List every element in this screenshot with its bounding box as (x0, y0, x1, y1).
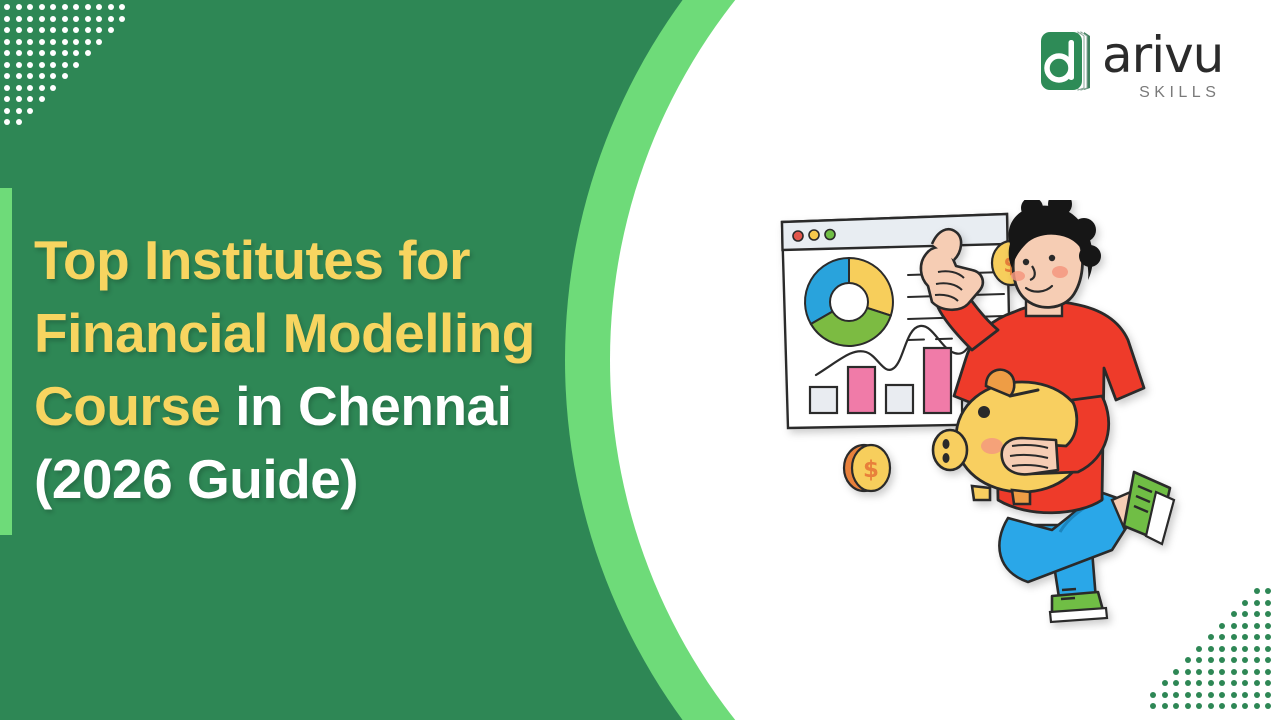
decor-dot (27, 27, 33, 33)
decor-dot (16, 119, 22, 125)
decor-dot (1219, 692, 1225, 698)
decor-dot (1254, 692, 1260, 698)
decor-dot (27, 62, 33, 68)
decor-dot (1208, 680, 1214, 686)
decor-dot (1242, 680, 1248, 686)
logo-wordmark: arivu SKILLS (1102, 30, 1223, 102)
headline-line-1: Top Institutes for (34, 229, 470, 291)
decor-dot (50, 50, 56, 56)
decor-dot (1242, 669, 1248, 675)
headline-line-2: Financial Modelling (34, 302, 535, 364)
decor-dot (1265, 680, 1271, 686)
decor-dot (1265, 634, 1271, 640)
decor-dot (27, 73, 33, 79)
decor-dot (1196, 646, 1202, 652)
decor-dot (27, 108, 33, 114)
decor-dot (1242, 657, 1248, 663)
decor-dot (4, 50, 10, 56)
decor-dot (62, 50, 68, 56)
decor-dot (1265, 703, 1271, 709)
decor-dot (1265, 646, 1271, 652)
decor-dot (50, 62, 56, 68)
svg-text:$: $ (863, 457, 879, 483)
decor-dot (39, 96, 45, 102)
coin-lower: $ (844, 445, 890, 491)
decor-dot (4, 62, 10, 68)
decor-dot (4, 27, 10, 33)
decor-dot (4, 73, 10, 79)
decor-dot (39, 50, 45, 56)
logo-subtitle: SKILLS (1102, 84, 1220, 102)
decor-dot (1254, 634, 1260, 640)
decor-dot (50, 27, 56, 33)
decor-dot (1219, 680, 1225, 686)
bar-4 (924, 348, 951, 413)
decor-dot (1254, 588, 1260, 594)
decor-dot (1231, 657, 1237, 663)
decor-dot (1231, 634, 1237, 640)
decor-dot (16, 85, 22, 91)
decor-dot (96, 27, 102, 33)
decor-dot (1219, 669, 1225, 675)
decor-dot (1254, 646, 1260, 652)
headline-line-4: (2026 Guide) (34, 448, 358, 510)
decor-dot (1208, 692, 1214, 698)
cheek-left (1011, 271, 1025, 281)
decor-dot (1162, 703, 1168, 709)
page-title: Top Institutes for Financial Modelling C… (34, 224, 634, 516)
decor-dot (1219, 703, 1225, 709)
decor-dot (39, 27, 45, 33)
decor-dot (108, 4, 114, 10)
decor-dot (1173, 669, 1179, 675)
decor-dot (1185, 669, 1191, 675)
decor-dot (1196, 669, 1202, 675)
decor-dot (39, 16, 45, 22)
decor-dot (50, 4, 56, 10)
decor-dot (16, 16, 22, 22)
decor-dot (1219, 657, 1225, 663)
bar-3 (886, 385, 913, 413)
decor-dot (1196, 692, 1202, 698)
decor-dot (1254, 611, 1260, 617)
decor-dot (50, 39, 56, 45)
eye-left (1023, 259, 1029, 265)
decor-dot (1265, 588, 1271, 594)
decor-dot (1219, 646, 1225, 652)
decor-dot (1219, 623, 1225, 629)
decor-dot (1242, 634, 1248, 640)
decor-dot (4, 108, 10, 114)
hero-banner: Top Institutes for Financial Modelling C… (0, 0, 1280, 720)
decor-dot (1173, 680, 1179, 686)
decor-dot (1185, 680, 1191, 686)
decor-dot (1219, 634, 1225, 640)
decor-dot (16, 108, 22, 114)
decor-dot (1242, 692, 1248, 698)
decor-dot (62, 62, 68, 68)
decor-dot (1242, 611, 1248, 617)
decor-dot (73, 50, 79, 56)
decor-dot (1254, 657, 1260, 663)
decor-dot (50, 73, 56, 79)
decor-dot (16, 27, 22, 33)
decor-dot (1231, 680, 1237, 686)
decor-dot (50, 16, 56, 22)
decor-dot (1254, 600, 1260, 606)
decor-dot (1254, 703, 1260, 709)
brand-logo[interactable]: arivu SKILLS (1040, 30, 1223, 102)
decor-dot (16, 50, 22, 56)
decor-dot (16, 62, 22, 68)
window-dot-green (825, 230, 835, 240)
donut-chart (805, 258, 893, 346)
decor-dot (119, 16, 125, 22)
decor-dot (1162, 692, 1168, 698)
decor-dot (1242, 623, 1248, 629)
cheek-right (1052, 266, 1068, 278)
decor-dot (73, 16, 79, 22)
decor-dot (119, 4, 125, 10)
decor-dot (73, 39, 79, 45)
decor-dot (96, 4, 102, 10)
decor-dot (96, 39, 102, 45)
decor-dot (1265, 657, 1271, 663)
decor-dot (1254, 680, 1260, 686)
decor-dot (1231, 611, 1237, 617)
decor-dot (4, 119, 10, 125)
decor-dot (1231, 646, 1237, 652)
decor-dot (62, 4, 68, 10)
headline-line-3-accent: Course (34, 375, 221, 437)
decor-dot (39, 62, 45, 68)
eye-right (1049, 255, 1055, 261)
decor-dot (108, 16, 114, 22)
decor-dot (16, 4, 22, 10)
decor-dot (39, 85, 45, 91)
decor-dot (1265, 669, 1271, 675)
decor-dot (73, 4, 79, 10)
decor-dot (39, 73, 45, 79)
decor-dot (1265, 623, 1271, 629)
decor-dot (27, 50, 33, 56)
decor-dot (1208, 703, 1214, 709)
decor-dot (4, 16, 10, 22)
decor-dot (85, 39, 91, 45)
decor-dot (1173, 703, 1179, 709)
decor-dot (1231, 692, 1237, 698)
decor-dot (1254, 623, 1260, 629)
decor-dot (1185, 692, 1191, 698)
decor-dot (4, 85, 10, 91)
decor-dot (27, 85, 33, 91)
window-dot-red (793, 231, 803, 241)
decor-dot (4, 39, 10, 45)
piggy-snout (933, 430, 967, 470)
decor-dot (1208, 646, 1214, 652)
decor-dot (62, 27, 68, 33)
decor-dot (27, 96, 33, 102)
decor-dot (85, 16, 91, 22)
left-accent-bar (0, 188, 12, 535)
decor-dot (96, 16, 102, 22)
decor-dot (27, 16, 33, 22)
decor-dot (1196, 680, 1202, 686)
decor-dot (85, 27, 91, 33)
decor-dot (50, 85, 56, 91)
decor-dot (1208, 669, 1214, 675)
decor-dot (39, 39, 45, 45)
decor-dot (1242, 646, 1248, 652)
decor-dot (1265, 611, 1271, 617)
decor-dot (27, 4, 33, 10)
bar-2 (848, 367, 875, 413)
piggy-eye (978, 406, 990, 418)
decor-dot (73, 27, 79, 33)
decor-dot (1185, 703, 1191, 709)
decor-dot (1265, 692, 1271, 698)
decor-dot (1185, 657, 1191, 663)
decor-dot (16, 39, 22, 45)
decor-dot (4, 4, 10, 10)
decor-dot (73, 62, 79, 68)
decor-dot (1196, 657, 1202, 663)
financial-analytics-illustration: $ $ (760, 200, 1200, 630)
decor-dot (62, 16, 68, 22)
decor-dot (1265, 600, 1271, 606)
decor-dot (62, 39, 68, 45)
decor-dot (16, 96, 22, 102)
logo-name: arivu (1102, 30, 1223, 80)
decor-dot (1150, 692, 1156, 698)
decor-dot (1208, 657, 1214, 663)
decor-dot (85, 4, 91, 10)
headline-line-3-plain: in Chennai (221, 375, 512, 437)
illustration-svg: $ $ (760, 200, 1200, 630)
decor-dot (27, 39, 33, 45)
decor-dot (85, 50, 91, 56)
decor-dot (1231, 623, 1237, 629)
decor-dot (1254, 669, 1260, 675)
decor-dot (1162, 680, 1168, 686)
decor-dot (4, 96, 10, 102)
bar-1 (810, 387, 837, 413)
decor-dot (1242, 703, 1248, 709)
decor-dot (1150, 703, 1156, 709)
decor-dot (1196, 703, 1202, 709)
decor-dot (1242, 600, 1248, 606)
decor-dot (1231, 703, 1237, 709)
decor-dot (1231, 669, 1237, 675)
decor-dot (108, 27, 114, 33)
decor-dot (39, 4, 45, 10)
decor-dot (62, 73, 68, 79)
book-logo-icon (1040, 30, 1098, 92)
decor-dot (1173, 692, 1179, 698)
decor-dot (1208, 634, 1214, 640)
window-dot-yellow (809, 230, 819, 240)
decor-dot (16, 73, 22, 79)
